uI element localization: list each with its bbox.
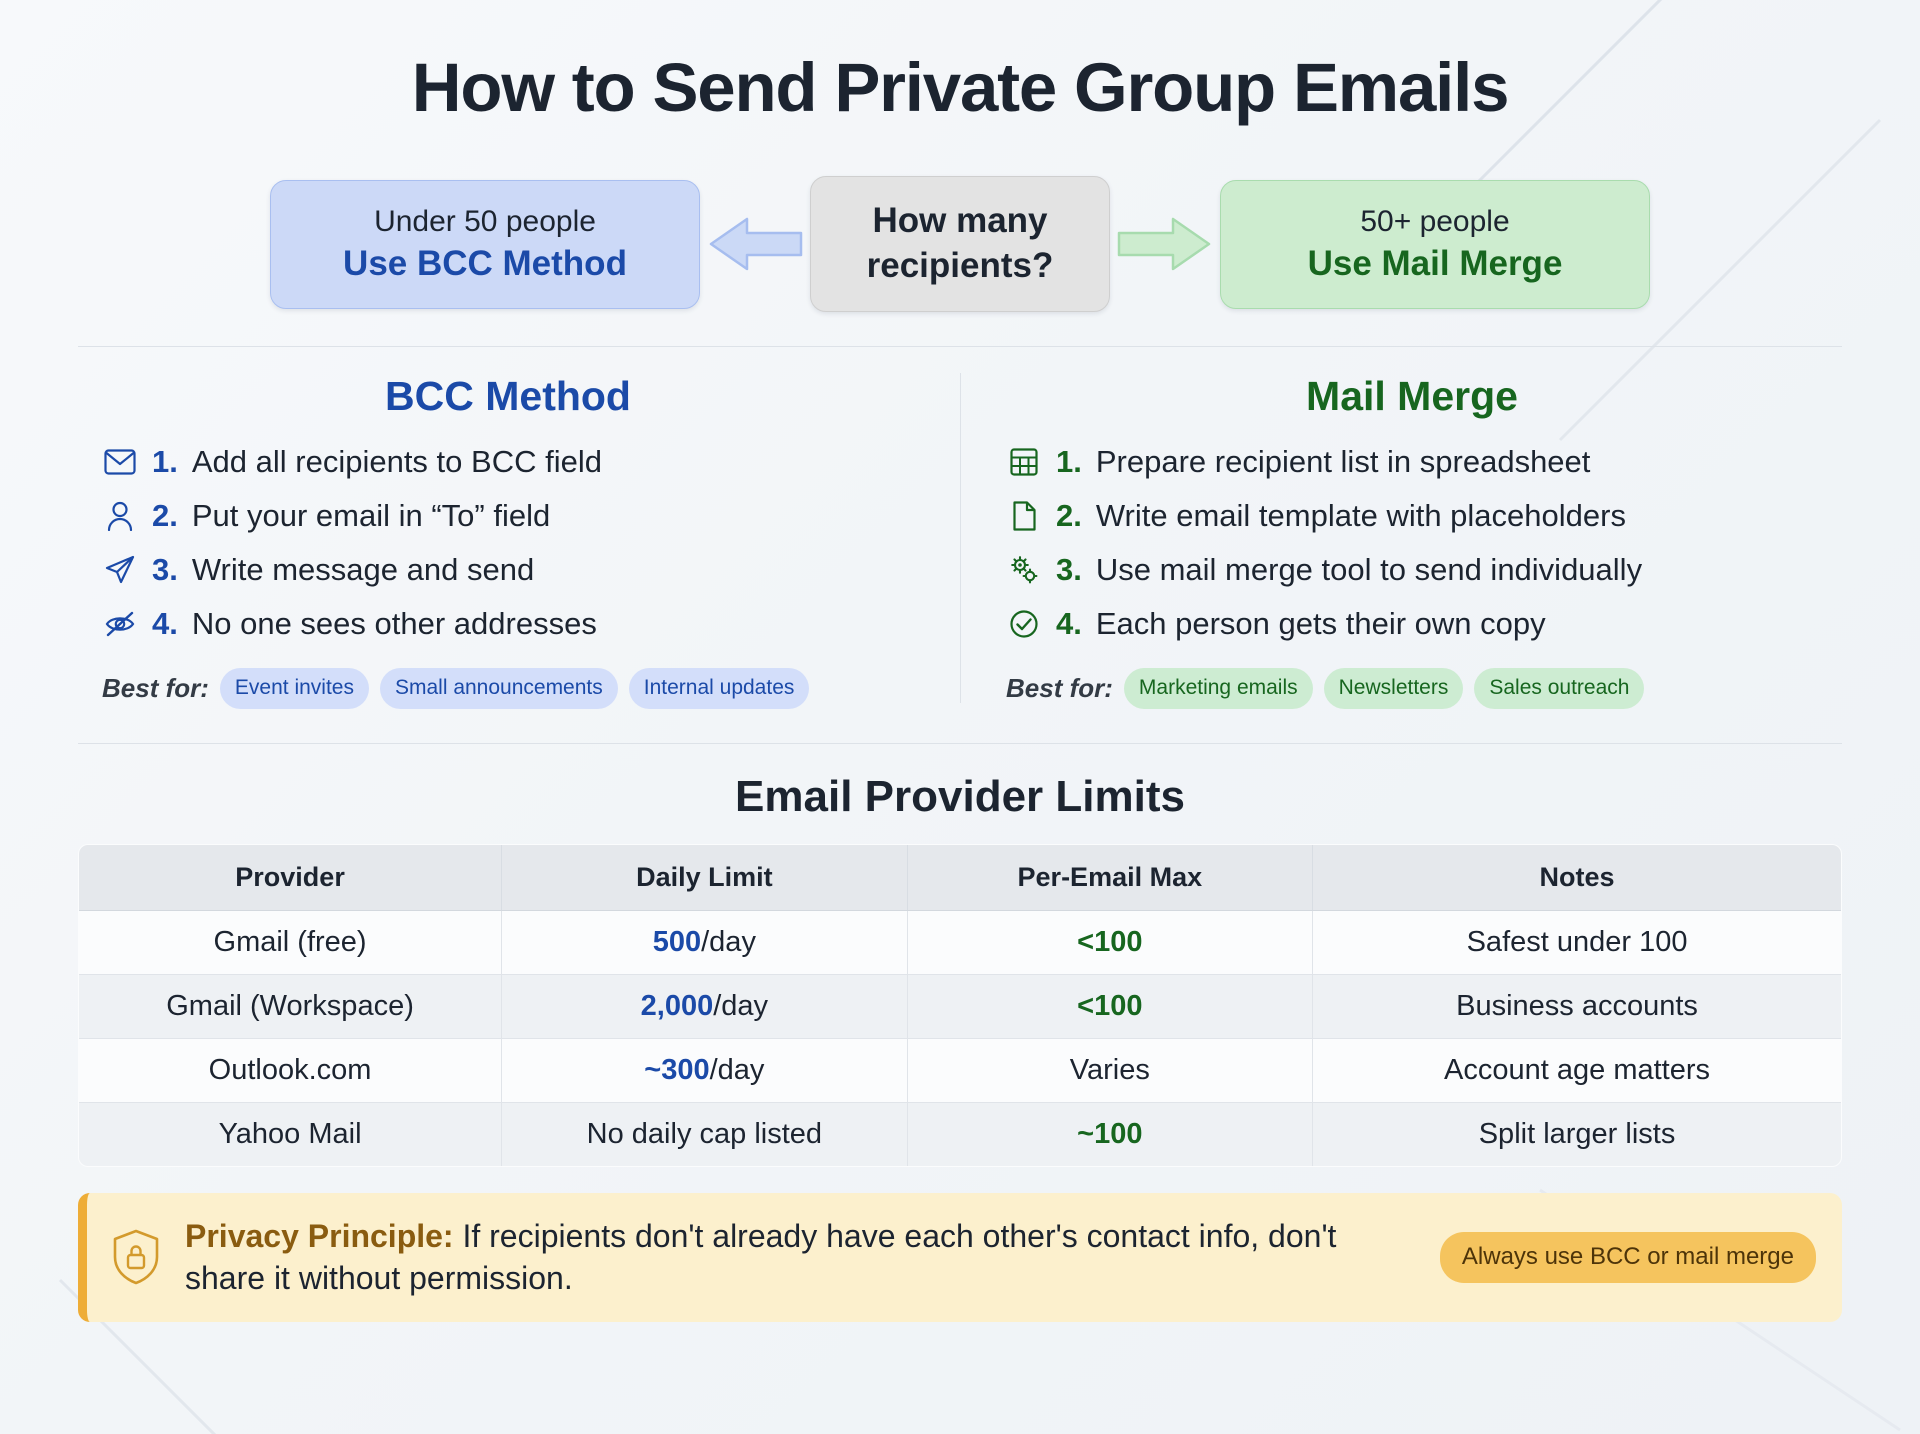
daily-limit-value: 500 [653, 926, 701, 958]
cell-per-email-max: Varies [907, 1039, 1312, 1103]
envelope-icon [102, 445, 138, 479]
flow-question-line2: recipients? [829, 244, 1091, 289]
best-for-label: Best for: [102, 673, 209, 704]
step-item: 2. Write email template with placeholder… [1006, 496, 1818, 536]
arrow-right-icon [1110, 213, 1220, 275]
flow-box-bcc[interactable]: Under 50 people Use BCC Method [270, 180, 700, 309]
daily-limit-suffix: /day [710, 1054, 765, 1086]
step-number: 1. [152, 444, 178, 480]
step-number: 3. [1056, 552, 1082, 588]
column-header-per-email-max: Per-Email Max [907, 845, 1312, 911]
step-item: 1. Prepare recipient list in spreadsheet [1006, 442, 1818, 482]
cell-provider: Gmail (Workspace) [79, 975, 502, 1039]
cell-provider: Outlook.com [79, 1039, 502, 1103]
table-row: Outlook.com ~300/day Varies Account age … [79, 1039, 1842, 1103]
flow-box-question[interactable]: How many recipients? [810, 176, 1110, 312]
document-icon [1006, 499, 1042, 533]
method-column-bcc: BCC Method 1. Add all recipients to BCC … [78, 373, 960, 709]
privacy-banner-heading: Privacy Principle: [185, 1218, 454, 1254]
decision-flow: Under 50 people Use BCC Method How many … [78, 176, 1842, 312]
spreadsheet-icon [1006, 445, 1042, 479]
per-email-max-value: ~100 [1077, 1118, 1142, 1150]
cell-notes: Split larger lists [1313, 1103, 1842, 1167]
step-item: 1. Add all recipients to BCC field [102, 442, 914, 482]
step-text: Put your email in “To” field [192, 498, 550, 534]
step-text: Write email template with placeholders [1096, 498, 1626, 534]
arrow-left-icon [700, 213, 810, 275]
flow-bcc-action: Use BCC Method [301, 242, 669, 286]
best-for-mailmerge: Best for: Marketing emails Newsletters S… [1006, 668, 1818, 709]
privacy-banner-text: Privacy Principle: If recipients don't a… [185, 1215, 1418, 1299]
column-header-daily-limit: Daily Limit [502, 845, 907, 911]
column-header-provider: Provider [79, 845, 502, 911]
page-title: How to Send Private Group Emails [78, 0, 1842, 124]
person-icon [102, 499, 138, 533]
step-item: 3. Use mail merge tool to send individua… [1006, 550, 1818, 590]
per-email-max-value: Varies [1070, 1054, 1150, 1086]
flow-question-line1: How many [829, 199, 1091, 244]
daily-limit-suffix: /day [713, 990, 768, 1022]
best-for-bcc: Best for: Event invites Small announceme… [102, 668, 914, 709]
cell-per-email-max: ~100 [907, 1103, 1312, 1167]
shield-lock-icon [111, 1229, 163, 1285]
method-title-mailmerge: Mail Merge [1006, 373, 1818, 420]
per-email-max-value: <100 [1077, 926, 1142, 958]
method-title-bcc: BCC Method [102, 373, 914, 420]
check-circle-icon [1006, 607, 1042, 641]
method-column-mailmerge: Mail Merge 1. Prepare recipient list in … [960, 373, 1842, 709]
cell-notes: Safest under 100 [1313, 911, 1842, 975]
tag-item: Sales outreach [1474, 668, 1644, 709]
per-email-max-value: <100 [1077, 990, 1142, 1022]
daily-limit-value: ~300 [644, 1054, 709, 1086]
table-row: Yahoo Mail No daily cap listed ~100 Spli… [79, 1103, 1842, 1167]
step-item: 4. No one sees other addresses [102, 604, 914, 644]
step-text: Prepare recipient list in spreadsheet [1096, 444, 1591, 480]
step-number: 2. [1056, 498, 1082, 534]
best-for-label: Best for: [1006, 673, 1113, 704]
methods-section: BCC Method 1. Add all recipients to BCC … [78, 347, 1842, 709]
flow-mailmerge-action: Use Mail Merge [1251, 242, 1619, 286]
gears-icon [1006, 553, 1042, 587]
cell-provider: Yahoo Mail [79, 1103, 502, 1167]
step-item: 3. Write message and send [102, 550, 914, 590]
step-text: Write message and send [192, 552, 534, 588]
step-text: Each person gets their own copy [1096, 606, 1546, 642]
cell-notes: Account age matters [1313, 1039, 1842, 1103]
divider-bottom [78, 743, 1842, 744]
step-number: 3. [152, 552, 178, 588]
cell-notes: Business accounts [1313, 975, 1842, 1039]
step-text: Use mail merge tool to send individually [1096, 552, 1642, 588]
cell-daily-limit: No daily cap listed [502, 1103, 907, 1167]
step-item: 2. Put your email in “To” field [102, 496, 914, 536]
eye-off-icon [102, 607, 138, 641]
daily-limit-value: 2,000 [641, 990, 714, 1022]
flow-bcc-condition: Under 50 people [301, 203, 669, 241]
step-number: 4. [1056, 606, 1082, 642]
step-item: 4. Each person gets their own copy [1006, 604, 1818, 644]
step-number: 2. [152, 498, 178, 534]
column-header-notes: Notes [1313, 845, 1842, 911]
privacy-banner-badge: Always use BCC or mail merge [1440, 1232, 1816, 1283]
cell-per-email-max: <100 [907, 975, 1312, 1039]
tag-item: Small announcements [380, 668, 618, 709]
cell-daily-limit: 500/day [502, 911, 907, 975]
cell-daily-limit: 2,000/day [502, 975, 907, 1039]
cell-provider: Gmail (free) [79, 911, 502, 975]
privacy-banner: Privacy Principle: If recipients don't a… [78, 1193, 1842, 1321]
table-title: Email Provider Limits [78, 772, 1842, 822]
infographic-root: How to Send Private Group Emails Under 5… [0, 0, 1920, 1434]
tag-item: Newsletters [1324, 668, 1464, 709]
table-row: Gmail (free) 500/day <100 Safest under 1… [79, 911, 1842, 975]
tag-item: Internal updates [629, 668, 810, 709]
table-header-row: Provider Daily Limit Per-Email Max Notes [79, 845, 1842, 911]
step-text: Add all recipients to BCC field [192, 444, 602, 480]
provider-limits-table: Provider Daily Limit Per-Email Max Notes… [78, 844, 1842, 1167]
step-number: 1. [1056, 444, 1082, 480]
flow-mailmerge-condition: 50+ people [1251, 203, 1619, 241]
flow-box-mailmerge[interactable]: 50+ people Use Mail Merge [1220, 180, 1650, 309]
table-row: Gmail (Workspace) 2,000/day <100 Busines… [79, 975, 1842, 1039]
cell-daily-limit: ~300/day [502, 1039, 907, 1103]
daily-limit-suffix: /day [701, 926, 756, 958]
tag-item: Event invites [220, 668, 369, 709]
step-text: No one sees other addresses [192, 606, 597, 642]
daily-limit-value: No daily cap listed [587, 1118, 822, 1150]
send-plane-icon [102, 553, 138, 587]
tag-item: Marketing emails [1124, 668, 1313, 709]
step-number: 4. [152, 606, 178, 642]
cell-per-email-max: <100 [907, 911, 1312, 975]
